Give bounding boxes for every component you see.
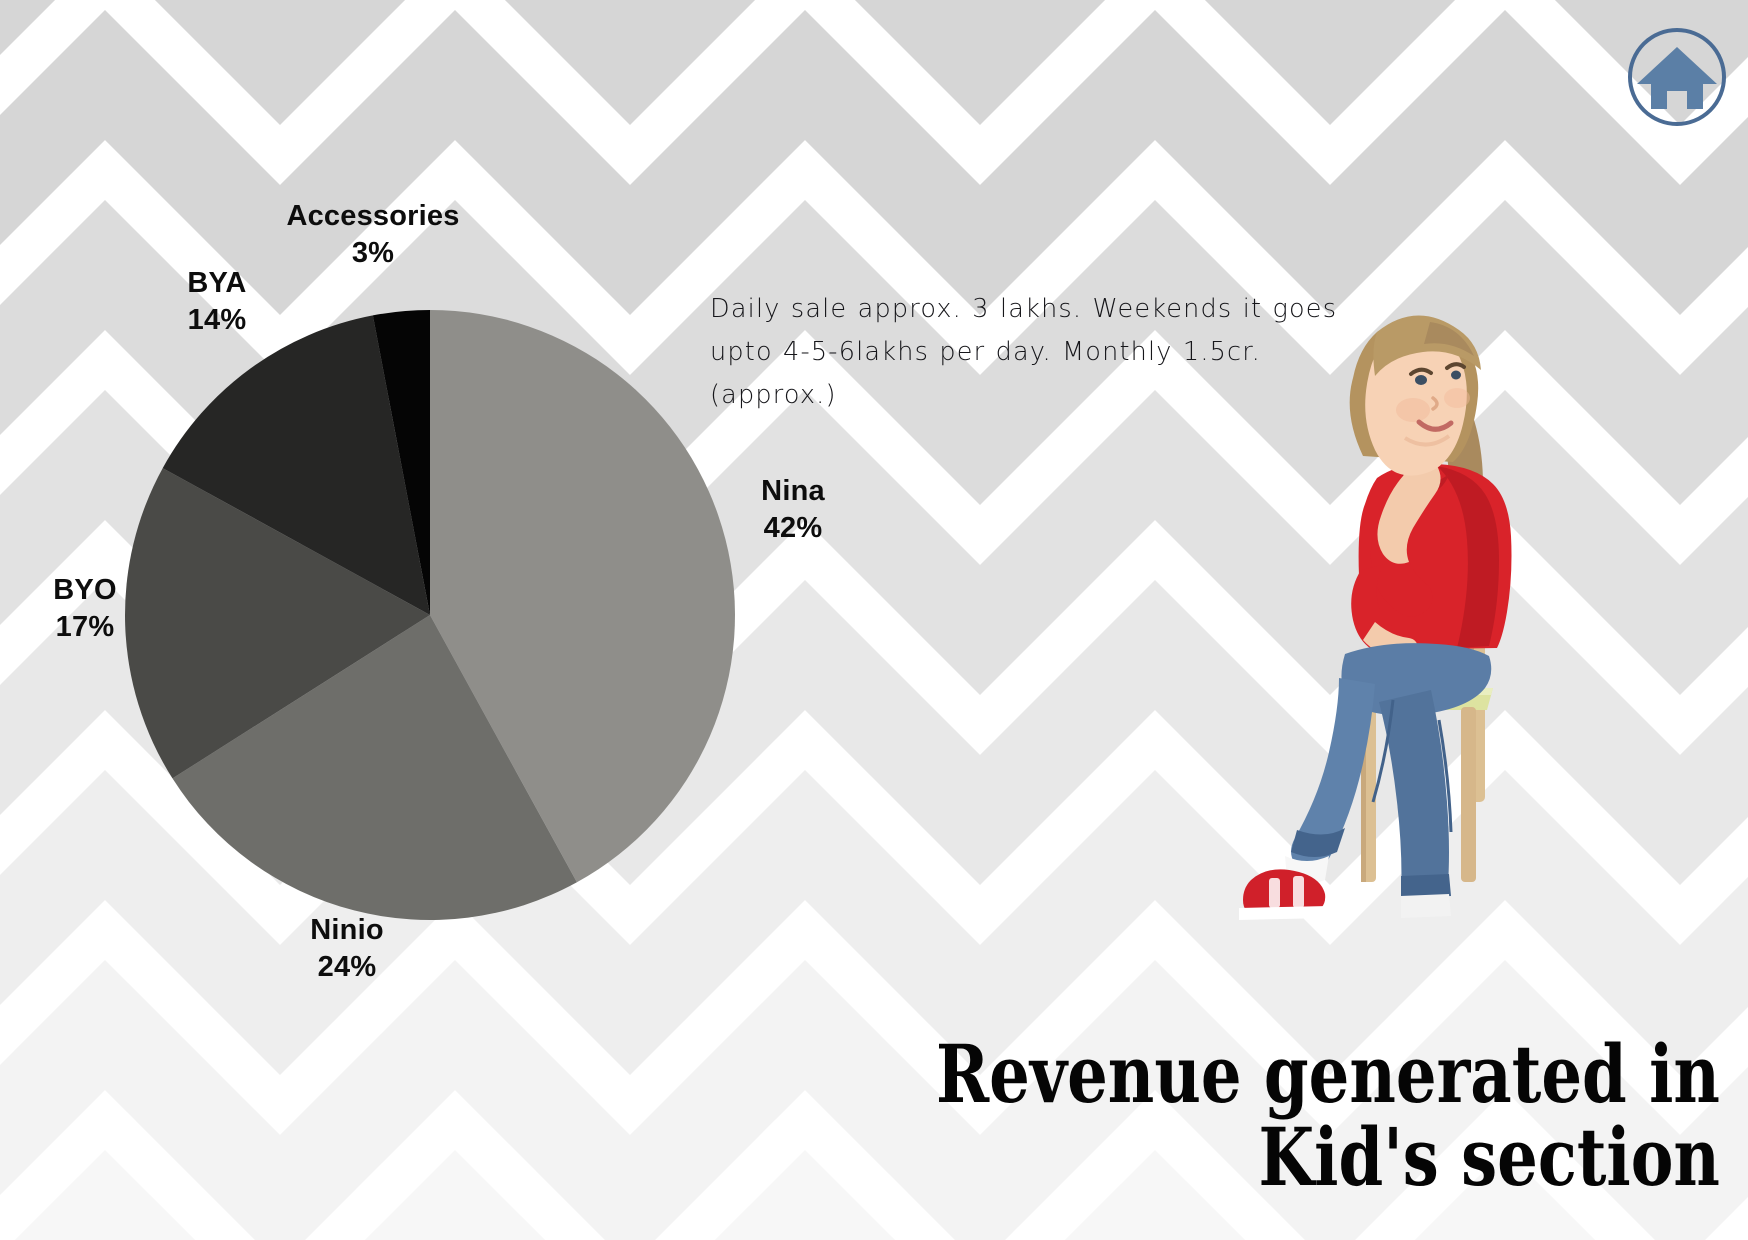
home-icon[interactable] — [1625, 25, 1729, 129]
pie-label-bya-name: BYA — [187, 267, 246, 299]
pie-label-ninio: Ninio 24% — [262, 912, 432, 986]
pie-label-accessories: Accessories 3% — [273, 198, 473, 272]
pie-label-accessories-value: 3% — [273, 235, 473, 272]
page-title-line-2: Kid's section — [936, 1116, 1720, 1198]
page-title-line-1: Revenue generated in — [936, 1033, 1720, 1115]
pie-slices — [125, 310, 735, 920]
pie-label-nina-value: 42% — [718, 510, 868, 547]
pie-label-byo: BYO 17% — [10, 572, 160, 646]
pie-label-ninio-value: 24% — [262, 949, 432, 986]
page-title: Revenue generated in Kid's section — [936, 1033, 1720, 1198]
slide-canvas: Accessories 3% BYA 14% BYO 17% Ninio 24%… — [0, 0, 1748, 1240]
pie-label-byo-name: BYO — [53, 574, 116, 606]
pie-label-bya-value: 14% — [142, 302, 292, 339]
pie-label-accessories-name: Accessories — [286, 200, 459, 232]
pie-label-nina: Nina 42% — [718, 473, 868, 547]
girl-on-chair-photo — [1225, 270, 1555, 920]
pie-label-nina-name: Nina — [761, 475, 825, 507]
home-button[interactable] — [1625, 25, 1729, 129]
pie-label-ninio-name: Ninio — [310, 914, 384, 946]
pie-label-bya: BYA 14% — [142, 265, 292, 339]
pie-label-byo-value: 17% — [10, 609, 160, 646]
